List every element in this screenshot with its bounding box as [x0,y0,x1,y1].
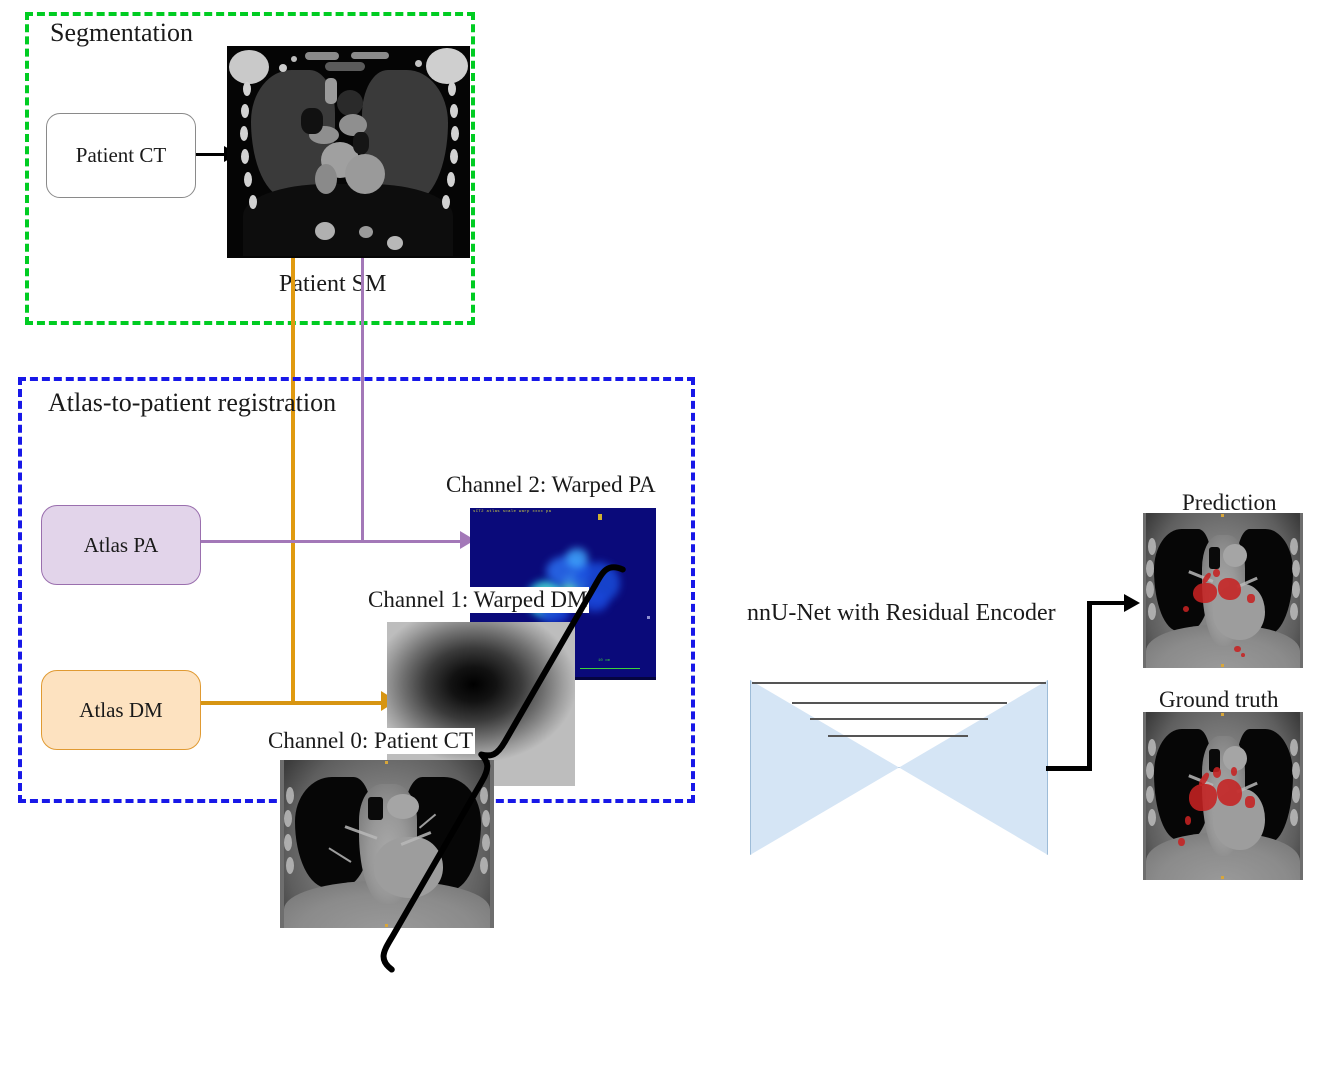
unet-skip-connection [792,702,1007,704]
patient-ct-input-label: Patient CT [76,143,166,168]
atlas-pa-input-box[interactable]: Atlas PA [41,505,201,585]
ground-truth-image [1143,712,1303,880]
atlas-dm-input-box[interactable]: Atlas DM [41,670,201,750]
channel1-caption: Channel 1: Warped DM [366,587,589,613]
diagram-canvas: Segmentation Patient CT [0,0,1320,1082]
patient-ct-input-box[interactable]: Patient CT [46,113,196,198]
unet-architecture-shape[interactable] [750,680,1048,855]
heatmap-scalebar-label: 10 cm [598,659,610,663]
unet-to-output-arrowhead [1124,594,1140,612]
channel0-caption: Channel 0: Patient CT [266,728,475,754]
unet-decoder-triangle [899,680,1048,855]
unet-encoder-triangle [750,680,899,855]
network-label: nnU-Net with Residual Encoder [745,600,1058,627]
unet-skip-connection [752,682,1046,684]
atlas-pa-arrow-line [201,540,473,543]
heatmap-scalebar [580,668,640,669]
segmentation-stage-title: Segmentation [50,20,193,46]
ground-truth-caption: Ground truth [1157,687,1280,713]
unet-to-output-arrow-segment [1087,601,1129,605]
registration-stage-title: Atlas-to-patient registration [48,390,336,416]
patient-sm-image [227,46,470,258]
prediction-image [1143,513,1303,668]
unet-skip-connection [810,718,988,720]
heatmap-header-text: sCT2 atlas scale warp xxxx pa [473,510,551,514]
atlas-pa-label: Atlas PA [84,533,159,558]
atlas-dm-arrow-line [201,701,393,705]
unet-skip-connection [828,735,968,737]
atlas-dm-label: Atlas DM [79,698,162,723]
channel2-caption: Channel 2: Warped PA [444,472,658,498]
unet-to-output-arrow-segment [1046,766,1092,771]
unet-to-output-arrow-segment [1087,603,1092,771]
